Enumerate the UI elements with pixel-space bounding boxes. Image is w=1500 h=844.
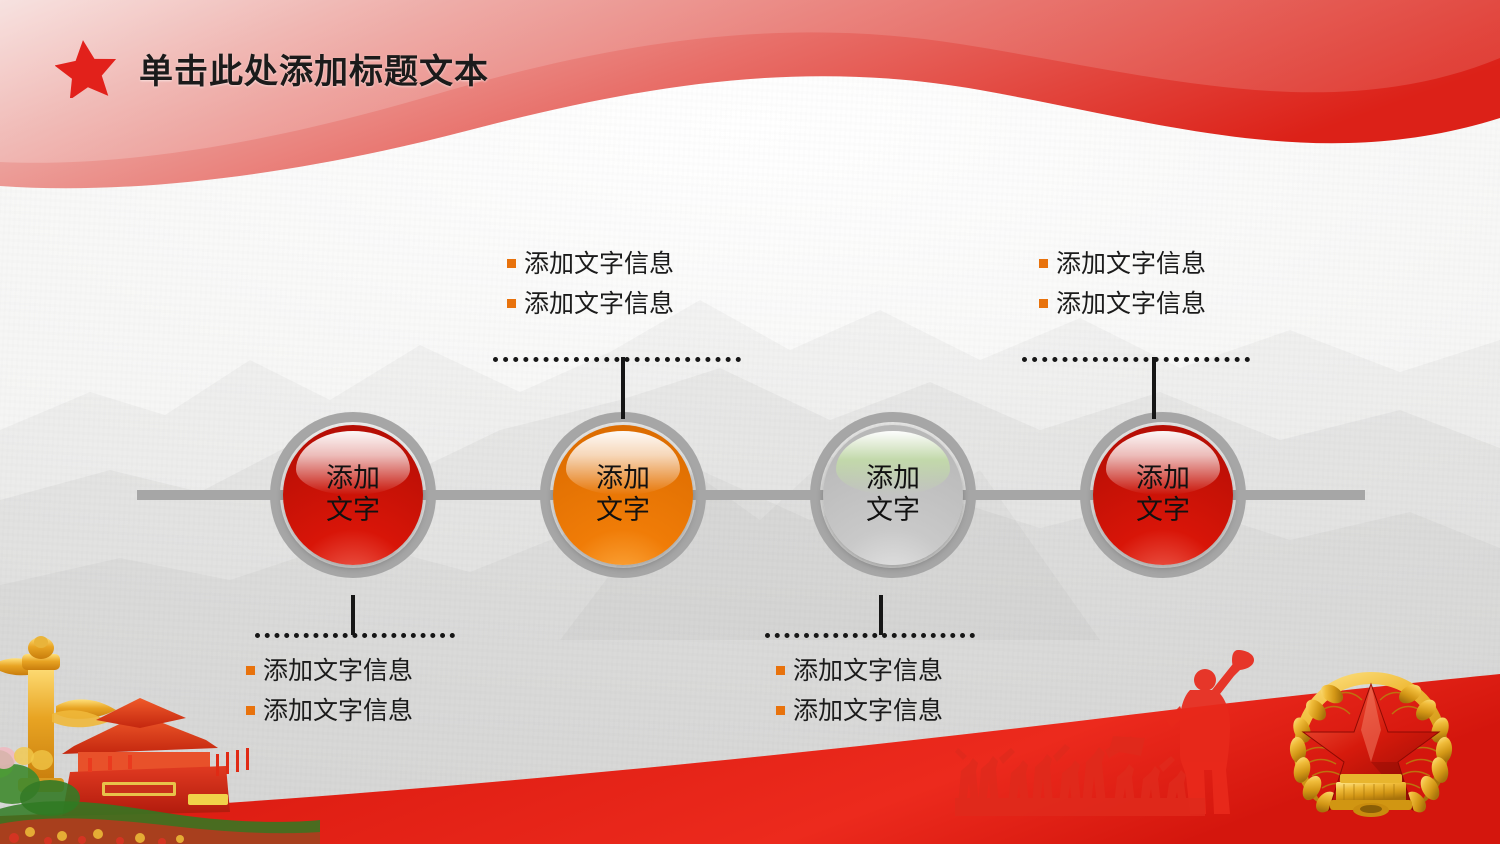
callout-line: 添加文字信息 [507, 288, 674, 320]
tiananmen-gate-image [0, 636, 320, 844]
connector-stem-1 [351, 595, 355, 635]
callout-line: 添加文字信息 [1039, 288, 1206, 320]
connector-dash-4 [1022, 357, 1250, 362]
process-node-2[interactable]: 添加 文字 [553, 425, 693, 565]
callout-text: 添加文字信息 [1056, 248, 1206, 280]
node-label: 添加 文字 [866, 463, 920, 527]
node-label: 添加 文字 [596, 463, 650, 527]
process-node-4[interactable]: 添加 文字 [1093, 425, 1233, 565]
callout-text: 添加文字信息 [1056, 288, 1206, 320]
callout-text: 添加文字信息 [524, 248, 674, 280]
node-ball[interactable]: 添加 文字 [823, 425, 963, 565]
slide-header: 单击此处添加标题文本 [55, 38, 489, 98]
connector-stem-3 [879, 595, 883, 635]
callout-4[interactable]: 添加文字信息 添加文字信息 [1039, 248, 1206, 328]
process-node-3[interactable]: 添加 文字 [823, 425, 963, 565]
bullet-icon [1039, 259, 1048, 268]
connector-dash-2 [493, 357, 741, 362]
node-label: 添加 文字 [326, 463, 380, 527]
node-ball[interactable]: 添加 文字 [283, 425, 423, 565]
military-emblem-icon [1282, 660, 1460, 820]
node-ball[interactable]: 添加 文字 [553, 425, 693, 565]
callout-text: 添加文字信息 [524, 288, 674, 320]
callout-line: 添加文字信息 [507, 248, 674, 280]
bullet-icon [1039, 299, 1048, 308]
connector-stem-4 [1152, 357, 1156, 419]
connector-stem-2 [621, 357, 625, 419]
bullet-icon [507, 299, 516, 308]
star-icon [55, 38, 117, 98]
callout-line: 添加文字信息 [1039, 248, 1206, 280]
slide-canvas: 单击此处添加标题文本 添加 文字 添加 文字 添加 文字 添加 文字 [0, 0, 1500, 844]
node-label: 添加 文字 [1136, 463, 1190, 527]
top-wave-banner [0, 0, 1500, 230]
bullet-icon [507, 259, 516, 268]
process-node-1[interactable]: 添加 文字 [283, 425, 423, 565]
node-ball[interactable]: 添加 文字 [1093, 425, 1233, 565]
crowd-silhouette-image [955, 736, 1205, 816]
connector-dash-3 [765, 633, 975, 638]
page-title: 单击此处添加标题文本 [139, 44, 489, 93]
callout-2[interactable]: 添加文字信息 添加文字信息 [507, 248, 674, 328]
